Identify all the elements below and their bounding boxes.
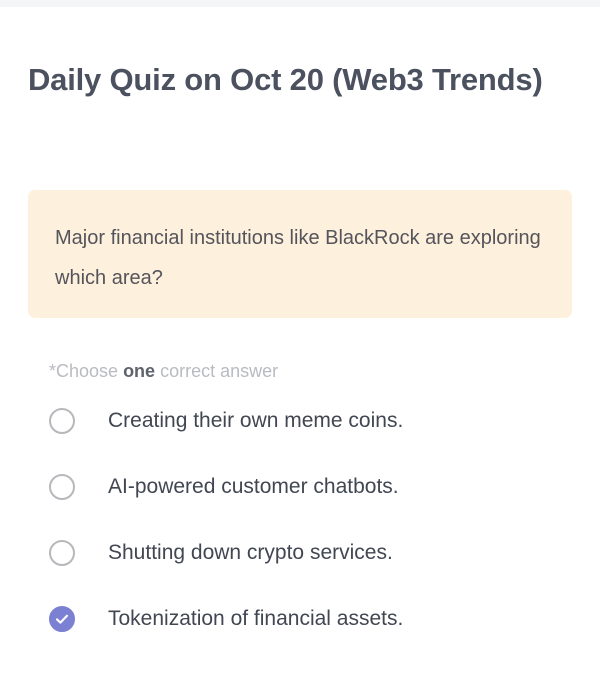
check-circle-icon[interactable] xyxy=(49,606,75,632)
quiz-page: Daily Quiz on Oct 20 (Web3 Trends) Major… xyxy=(0,7,600,683)
answer-option-0[interactable]: Creating their own meme coins. xyxy=(49,400,569,442)
question-card: Major financial institutions like BlackR… xyxy=(28,190,572,318)
answer-option-1[interactable]: AI-powered customer chatbots. xyxy=(49,466,569,508)
answer-option-label: Shutting down crypto services. xyxy=(108,538,393,568)
question-text: Major financial institutions like BlackR… xyxy=(55,218,545,298)
radio-empty-icon[interactable] xyxy=(49,540,75,566)
answer-option-3[interactable]: Tokenization of financial assets. xyxy=(49,598,569,640)
check-icon xyxy=(51,608,73,630)
radio-empty-icon[interactable] xyxy=(49,408,75,434)
choose-instruction-suffix: correct answer xyxy=(155,361,278,381)
page-title: Daily Quiz on Oct 20 (Web3 Trends) xyxy=(28,54,558,105)
top-status-strip xyxy=(0,0,600,7)
choose-instruction: *Choose one correct answer xyxy=(49,359,278,383)
answer-option-label: Creating their own meme coins. xyxy=(108,406,403,436)
radio-empty-icon[interactable] xyxy=(49,474,75,500)
choose-instruction-emphasis: one xyxy=(123,361,155,381)
choose-instruction-prefix: *Choose xyxy=(49,361,123,381)
answer-option-2[interactable]: Shutting down crypto services. xyxy=(49,532,569,574)
answer-option-label: Tokenization of financial assets. xyxy=(108,604,403,634)
answer-options-list: Creating their own meme coins. AI-powere… xyxy=(49,400,569,664)
answer-option-label: AI-powered customer chatbots. xyxy=(108,472,399,502)
